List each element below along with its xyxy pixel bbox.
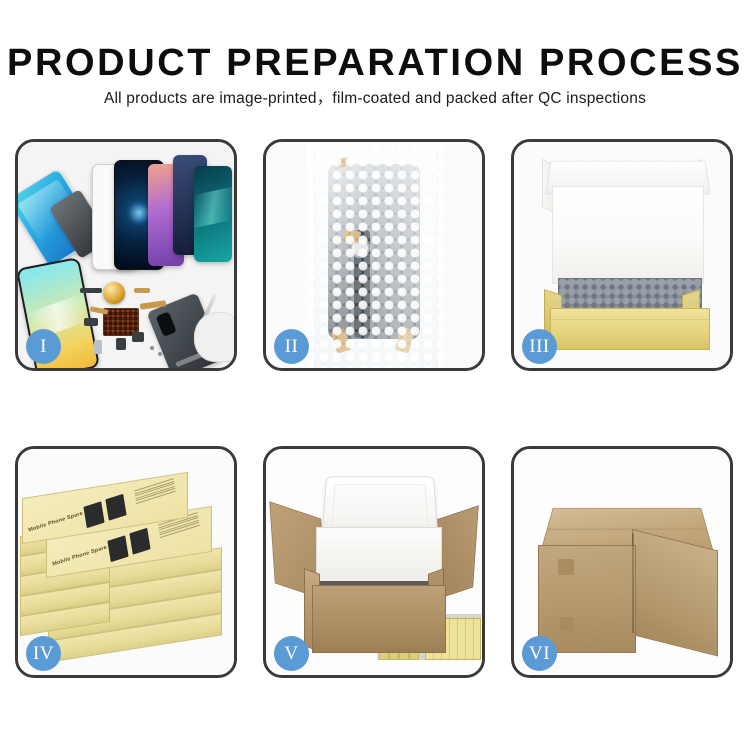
carton-right-face [632,529,718,656]
box-label-phone-1 [107,535,128,562]
step-numeral-badge: VI [522,636,557,671]
process-step-5: V [263,446,485,678]
process-steps-grid: I II [0,0,750,750]
step-1-panel: I [15,139,237,371]
process-step-1: I [15,139,237,371]
step-numeral-badge: I [26,329,61,364]
part-bit-2 [84,318,98,326]
carton-tape-patch-2 [560,617,574,631]
carton-front-face [538,545,636,653]
part-bit-1 [80,288,102,293]
step-4-panel: Mobile Phone Spare Parts Mobile Phone Sp… [15,446,237,678]
process-step-6: VI [511,446,733,678]
process-step-2: II [263,139,485,371]
box-label-phone-2 [129,528,150,555]
step-numeral-badge: III [522,329,557,364]
camera-lens-icon [156,311,177,337]
step-numeral-badge: IV [26,636,61,671]
box-label-phone-1 [83,501,104,528]
part-bit-5 [94,340,102,354]
step-5-panel: V [263,446,485,678]
process-step-4: Mobile Phone Spare Parts Mobile Phone Sp… [15,446,237,678]
box-label-phone-2 [105,494,126,521]
part-bit-4 [132,332,144,342]
box-label-lines-1 [134,478,176,506]
plastic-sheen-overlay [306,144,444,370]
step-numeral-badge: II [274,329,309,364]
step-6-panel: VI [511,446,733,678]
flex-cable-3 [134,288,150,293]
step-numeral-badge: V [274,636,309,671]
white-foam-liner [552,186,704,284]
process-step-3: III [511,139,733,371]
box-front-panel [550,308,710,350]
hand-icon [194,312,237,362]
step-2-panel: II [263,139,485,371]
gold-coil-icon [103,282,125,304]
screw-1 [150,346,154,350]
screw-2 [158,352,162,356]
step-3-panel: III [511,139,733,371]
part-bit-3 [116,338,126,350]
infographic-page: PRODUCT PREPARATION PROCESS All products… [0,0,750,750]
phone-display-teal-icon [194,166,232,262]
carton-tape-patch-1 [558,559,574,575]
carton-corner-seam [632,533,634,633]
carton-front-panel [312,585,446,653]
